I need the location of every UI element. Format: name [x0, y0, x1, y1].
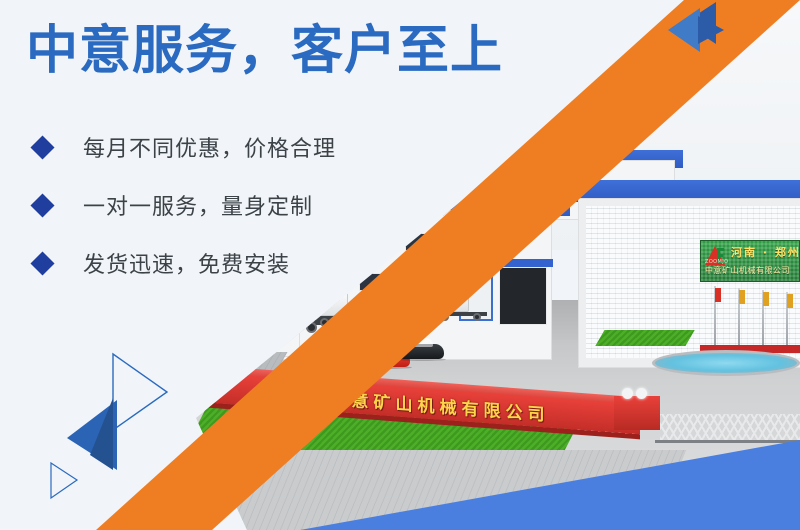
triangle-outline-icon: [51, 463, 77, 498]
list-item-label: 发货迅速，免费安装: [83, 247, 290, 279]
company-sign: 河南 · 郑州 中意矿山机械有限公司 ZOOMJO: [700, 240, 800, 282]
list-item: 每月不同优惠，价格合理: [34, 118, 336, 176]
flag: [739, 290, 745, 304]
retractable-gate: [660, 414, 800, 440]
diamond-bullet-icon: [30, 135, 54, 159]
parked-car: [398, 344, 444, 359]
promo-banner: 河南 · 郑州 中意矿山机械有限公司 ZOOMJO: [0, 0, 800, 530]
front-paving: [134, 450, 686, 530]
lawn-strip: [196, 340, 264, 354]
gate-rail: [655, 440, 800, 443]
triangle-outline-icon: [113, 354, 167, 430]
main-building-eave: [0, 0, 312, 6]
gate-lamp: [636, 388, 647, 399]
company-sign-line1: 河南 · 郑州: [731, 244, 800, 260]
company-sign-logo-text: ZOOMJO: [705, 259, 728, 265]
flag: [787, 294, 793, 308]
diamond-bullet-icon: [30, 251, 54, 275]
gate-post: [614, 396, 660, 430]
list-item-label: 一对一服务，量身定制: [83, 189, 313, 221]
lawn-strip: [595, 330, 694, 346]
company-sign-line2: 中意矿山机械有限公司: [705, 265, 790, 276]
list-item: 发货迅速，免费安装: [34, 234, 336, 292]
triangle-filled-icon: [90, 398, 113, 470]
diamond-bullet-icon: [30, 193, 54, 217]
flag: [715, 288, 721, 302]
list-item: 一对一服务，量身定制: [34, 176, 336, 234]
page-title: 中意服务，客户至上: [26, 24, 503, 79]
flag: [763, 292, 769, 306]
mobile-crusher-far: [385, 272, 495, 332]
feature-list: 每月不同优惠，价格合理 一对一服务，量身定制 发货迅速，免费安装: [34, 118, 336, 292]
fountain: [652, 350, 800, 376]
triangle-filled-icon: [67, 400, 117, 470]
gate-lamp: [622, 388, 633, 399]
list-item-label: 每月不同优惠，价格合理: [83, 131, 336, 163]
